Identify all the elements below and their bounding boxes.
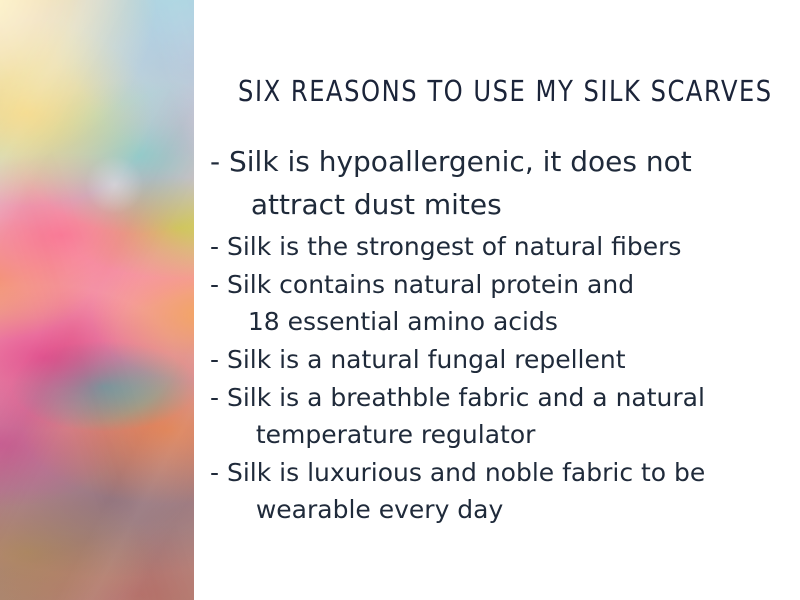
bullet-item: - Silk is luxurious and noble fabric to … xyxy=(210,454,792,528)
slide-title: SIX REASONS TO USE MY SILK SCARVES xyxy=(238,74,770,108)
rainbow-silk-scarf-photo xyxy=(0,0,194,600)
bullet-item: - Silk is the strongest of natural fiber… xyxy=(210,228,792,265)
bullet-item: - Silk contains natural protein and 18 e… xyxy=(210,266,792,340)
bullet-list: - Silk is hypoallergenic, it does not at… xyxy=(210,140,792,529)
slide-canvas: SIX REASONS TO USE MY SILK SCARVES - Sil… xyxy=(0,0,800,600)
bullet-item: - Silk is hypoallergenic, it does not at… xyxy=(210,140,792,226)
content-panel: SIX REASONS TO USE MY SILK SCARVES - Sil… xyxy=(194,0,800,600)
photo-vignette-layer xyxy=(0,0,194,600)
bullet-item: - Silk is a breathble fabric and a natur… xyxy=(210,379,792,453)
bullet-item: - Silk is a natural fungal repellent xyxy=(210,341,792,378)
